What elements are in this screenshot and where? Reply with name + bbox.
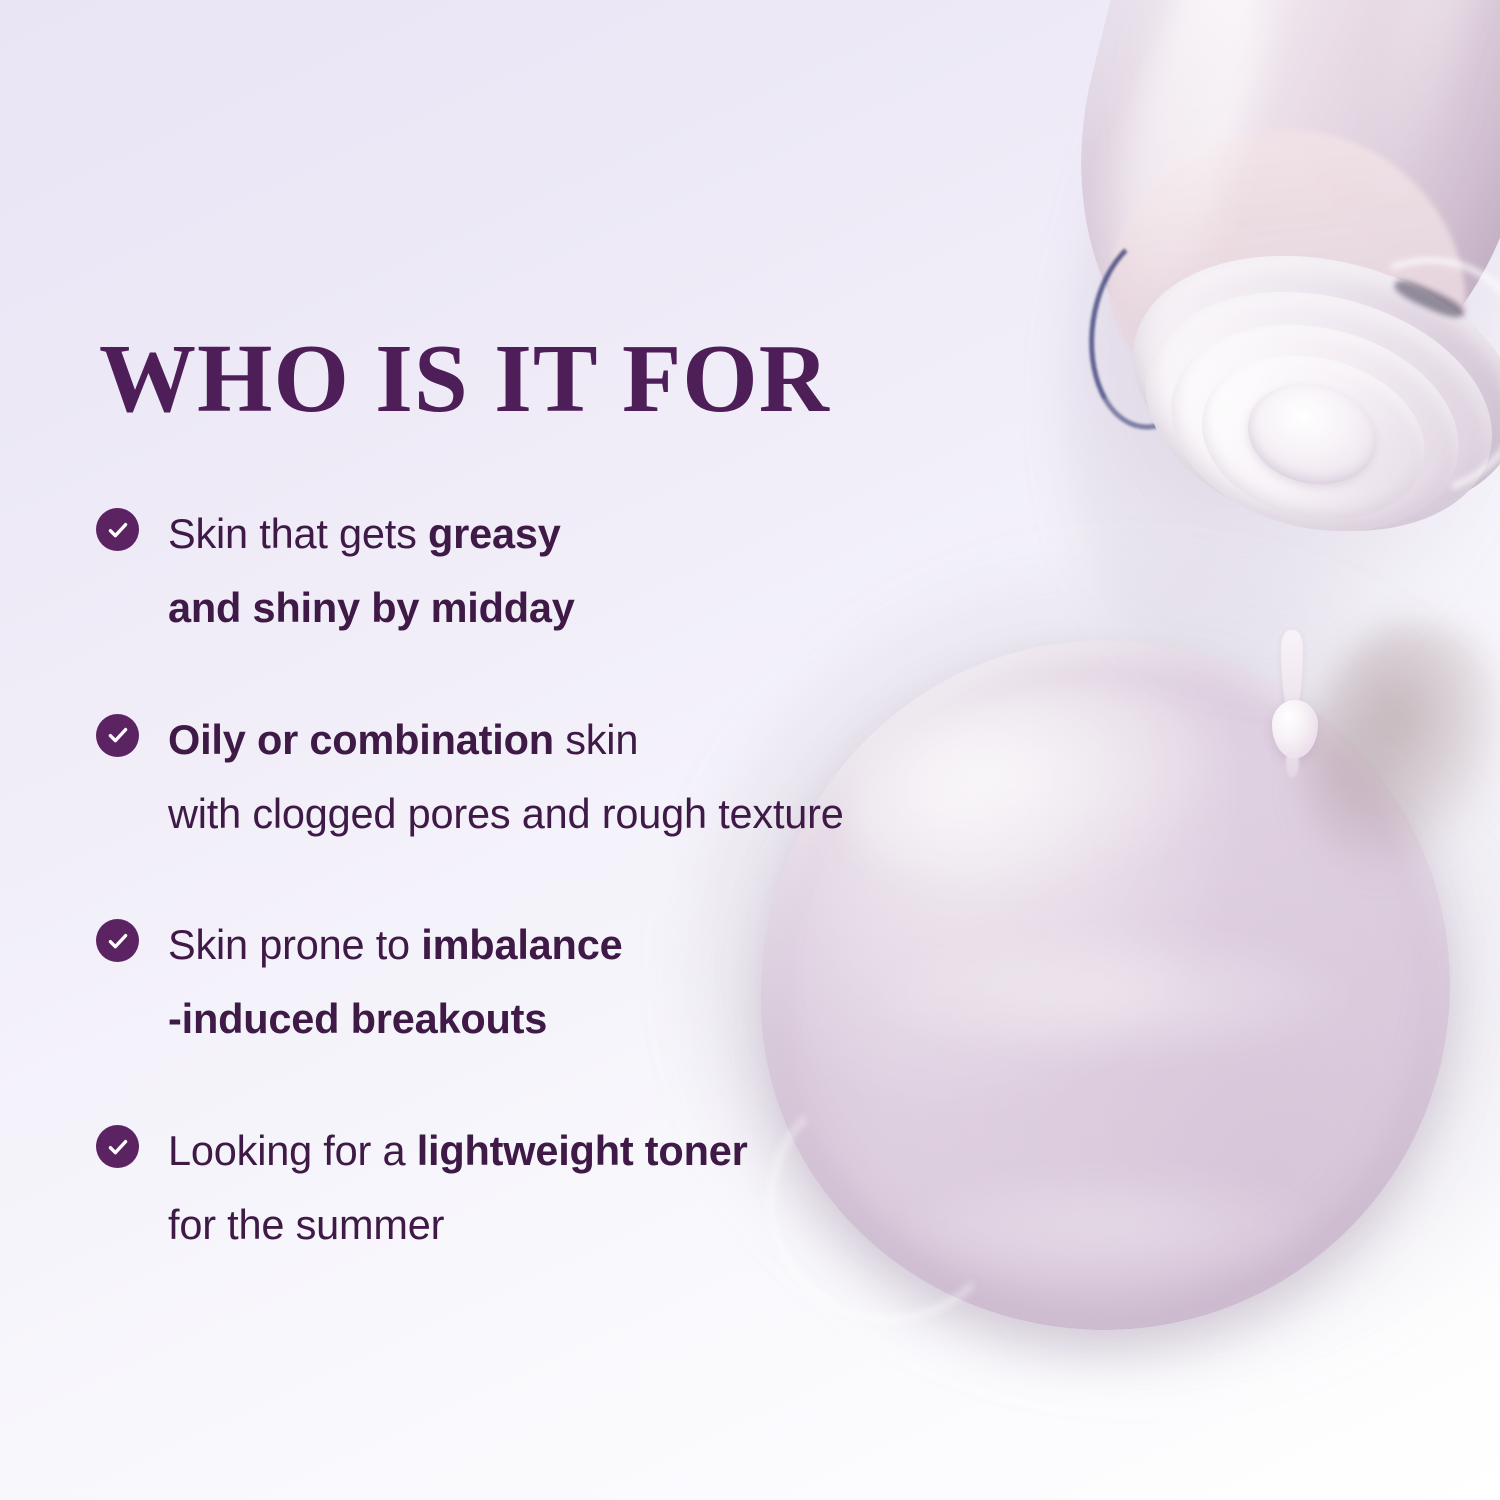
benefit-line-1: Skin that gets greasy	[168, 497, 1106, 571]
benefit-text-plain: Skin that gets	[168, 510, 428, 557]
benefit-text-bold: imbalance	[421, 921, 622, 968]
benefit-text-plain: with clogged pores and rough texture	[168, 790, 844, 837]
check-circle-icon	[96, 508, 139, 551]
check-circle-icon	[96, 919, 139, 962]
check-circle-icon	[96, 714, 139, 757]
benefit-text-bold: Oily or combination	[168, 716, 554, 763]
list-item: Oily or combination skin with clogged po…	[96, 703, 1106, 851]
benefit-text-plain: skin	[554, 716, 638, 763]
text-content: WHO IS IT FOR Skin that gets greasy and …	[0, 0, 1500, 1500]
page-title: WHO IS IT FOR	[99, 330, 830, 427]
benefit-line-1: Looking for a lightweight toner	[168, 1114, 1106, 1188]
benefit-text-bold: -induced breakouts	[168, 995, 547, 1042]
benefit-text-bold: and shiny by midday	[168, 584, 575, 631]
benefit-text-plain: Skin prone to	[168, 921, 421, 968]
benefit-list: Skin that gets greasy and shiny by midda…	[96, 497, 1106, 1262]
benefit-line-2: -induced breakouts	[168, 982, 1106, 1056]
list-item: Skin prone to imbalance -induced breakou…	[96, 908, 1106, 1056]
benefit-line-2: for the summer	[168, 1188, 1106, 1262]
benefit-line-1: Oily or combination skin	[168, 703, 1106, 777]
benefit-text-bold: lightweight toner	[417, 1127, 748, 1174]
list-item: Skin that gets greasy and shiny by midda…	[96, 497, 1106, 645]
benefit-line-1: Skin prone to imbalance	[168, 908, 1106, 982]
benefit-line-2: with clogged pores and rough texture	[168, 777, 1106, 851]
promo-graphic: WHO IS IT FOR Skin that gets greasy and …	[0, 0, 1500, 1500]
benefit-line-2: and shiny by midday	[168, 571, 1106, 645]
check-circle-icon	[96, 1125, 139, 1168]
list-item: Looking for a lightweight toner for the …	[96, 1114, 1106, 1262]
benefit-text-bold: greasy	[428, 510, 561, 557]
benefit-text-plain: Looking for a	[168, 1127, 417, 1174]
benefit-text-plain: for the summer	[168, 1201, 444, 1248]
